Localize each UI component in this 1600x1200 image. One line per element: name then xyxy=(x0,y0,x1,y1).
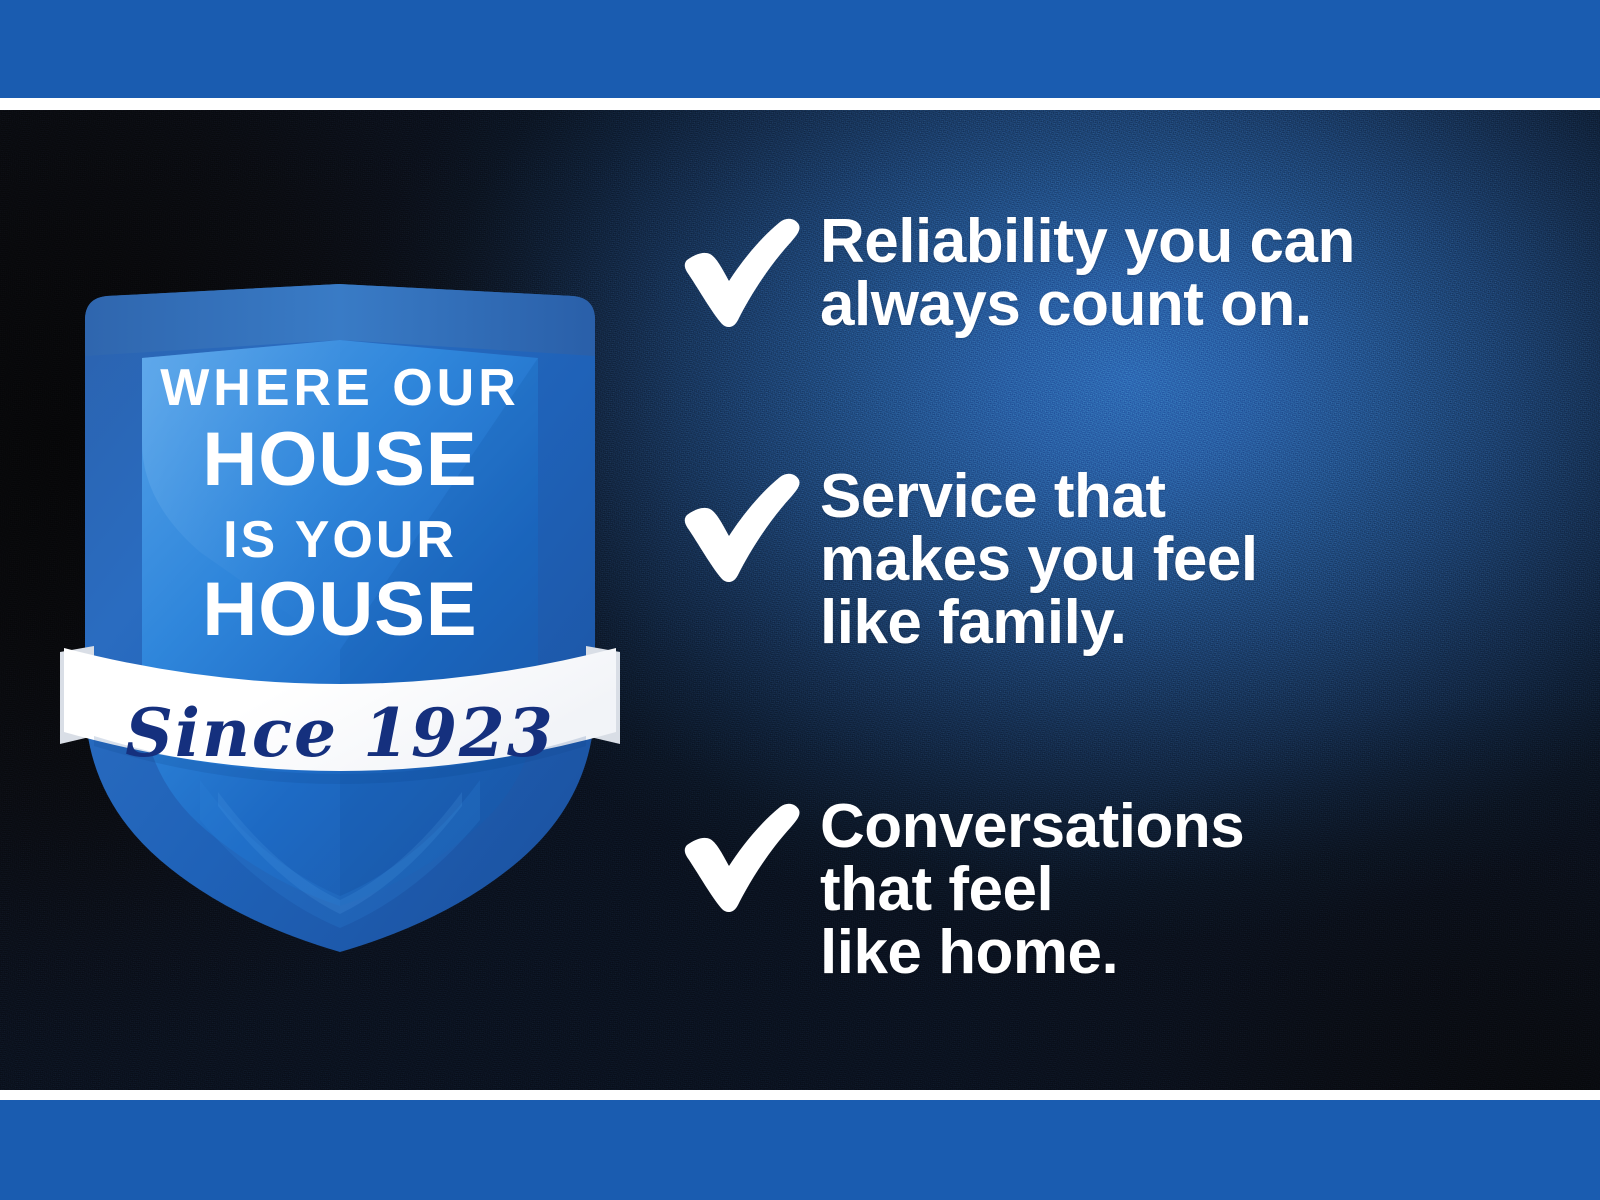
promo-poster: WHERE OUR HOUSE IS YOUR HOUSE Since 1923 xyxy=(0,0,1600,1200)
checkmark-icon xyxy=(660,210,820,334)
benefit-text: Reliability you can always count on. xyxy=(820,210,1355,336)
shield-line-3: IS YOUR xyxy=(223,511,457,569)
benefits-list: Reliability you can always count on. Ser… xyxy=(660,110,1600,1090)
benefit-text: Service that makes you feel like family. xyxy=(820,465,1258,654)
benefit-text: Conversations that feel like home. xyxy=(820,795,1244,984)
checkmark-icon xyxy=(660,465,820,589)
shield-line-1: WHERE OUR xyxy=(160,359,520,417)
shield-line-4: HOUSE xyxy=(202,567,477,652)
shield-emblem: WHERE OUR HOUSE IS YOUR HOUSE Since 1923 xyxy=(50,180,630,970)
bottom-brand-bar xyxy=(0,1100,1600,1200)
checkmark-icon xyxy=(660,795,820,919)
benefit-item-reliability: Reliability you can always count on. xyxy=(660,210,1355,336)
benefit-item-conversations: Conversations that feel like home. xyxy=(660,795,1244,984)
ribbon-since-text: Since 1923 xyxy=(125,694,555,772)
shield-line-2: HOUSE xyxy=(202,417,477,502)
benefit-item-service: Service that makes you feel like family. xyxy=(660,465,1258,654)
top-brand-bar xyxy=(0,0,1600,98)
